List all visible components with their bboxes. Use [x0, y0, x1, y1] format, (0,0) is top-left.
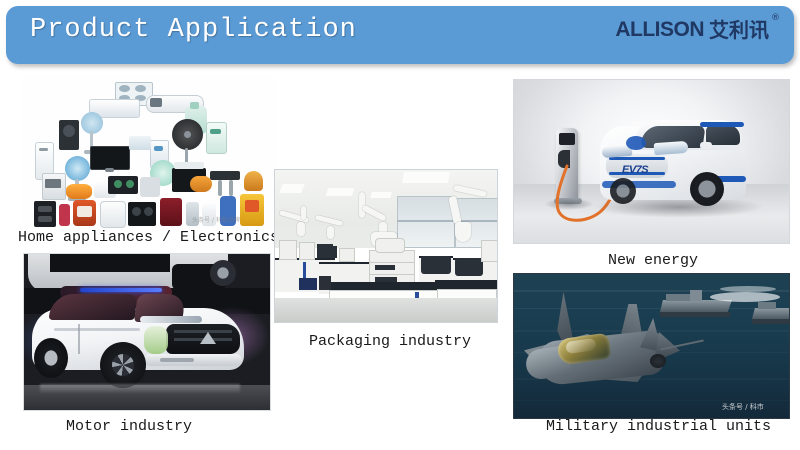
- image-watermark: 头条号 / 科技品牌: [192, 215, 240, 224]
- caption-packaging-industry: Packaging industry: [309, 333, 471, 350]
- image-watermark: 头条号 / 科市: [722, 402, 764, 412]
- vehicle-badge: EV7S: [622, 164, 648, 176]
- page-title: Product Application: [30, 15, 357, 45]
- image-motor-industry: [23, 253, 271, 411]
- registered-trademark-icon: ®: [771, 13, 780, 23]
- logo-latin-text: ALLISON: [615, 19, 704, 41]
- image-packaging-industry: [274, 169, 498, 323]
- slide-root: Product Application ALLISON 艾利讯 ®: [0, 0, 800, 450]
- caption-motor-industry: Motor industry: [66, 418, 192, 435]
- image-military-industrial: 头条号 / 科市: [513, 273, 790, 419]
- logo-chinese-text: 艾利讯: [709, 19, 769, 41]
- image-new-energy: EV7S: [513, 79, 790, 244]
- image-home-appliances: 头条号 / 科技品牌: [22, 76, 276, 228]
- brand-logo: ALLISON 艾利讯 ®: [615, 19, 780, 41]
- header-bar: Product Application ALLISON 艾利讯 ®: [6, 6, 794, 64]
- caption-new-energy: New energy: [608, 252, 698, 269]
- caption-home-appliances: Home appliances / Electronics: [18, 229, 279, 246]
- caption-military-industrial: Military industrial units: [546, 418, 771, 435]
